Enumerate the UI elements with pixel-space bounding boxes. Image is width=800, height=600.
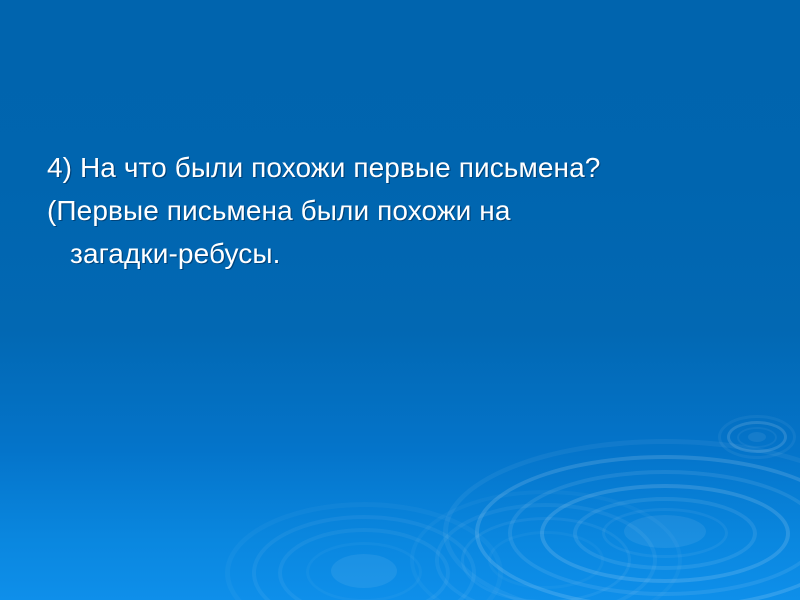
slide-text-block: 4) На что были похожи первые письмена? (… <box>47 146 767 275</box>
ripple-ring-medium-2 <box>461 517 631 600</box>
ripple-ring-large-1 <box>475 455 800 600</box>
ripple-ring-small-1 <box>727 421 787 453</box>
ripple-ring-large-4 <box>573 497 757 570</box>
ripple-ring-small-outer <box>718 415 796 459</box>
ripple-core-small <box>748 432 766 442</box>
ripple-ring-large-3 <box>540 484 790 583</box>
slide-text-line-3: загадки-ребусы. <box>47 232 767 275</box>
slide-text-line-1: 4) На что были похожи первые письмена? <box>47 146 767 189</box>
ripple-ring-left-3 <box>306 542 422 600</box>
ripple-ring-large-outer <box>443 439 800 600</box>
slide-text-line-2: (Первые письмена были похожи на <box>47 189 767 232</box>
ripple-ring-left-outer <box>225 502 503 600</box>
presentation-slide: 4) На что были похожи первые письмена? (… <box>0 0 800 600</box>
ripple-ring-medium-outer <box>410 490 682 600</box>
ripple-core-left <box>331 554 397 588</box>
ripple-ring-large-5 <box>602 508 728 558</box>
ripple-decoration-layer <box>0 0 800 600</box>
ripple-ring-medium-3 <box>488 531 604 589</box>
ripple-ring-large-2 <box>508 470 800 596</box>
ripple-ring-left-2 <box>278 528 450 600</box>
ripple-ring-medium-1 <box>435 503 657 600</box>
ripple-ring-small-2 <box>737 427 777 448</box>
ripple-ring-left-1 <box>252 515 476 600</box>
ripple-core-large <box>624 515 706 548</box>
